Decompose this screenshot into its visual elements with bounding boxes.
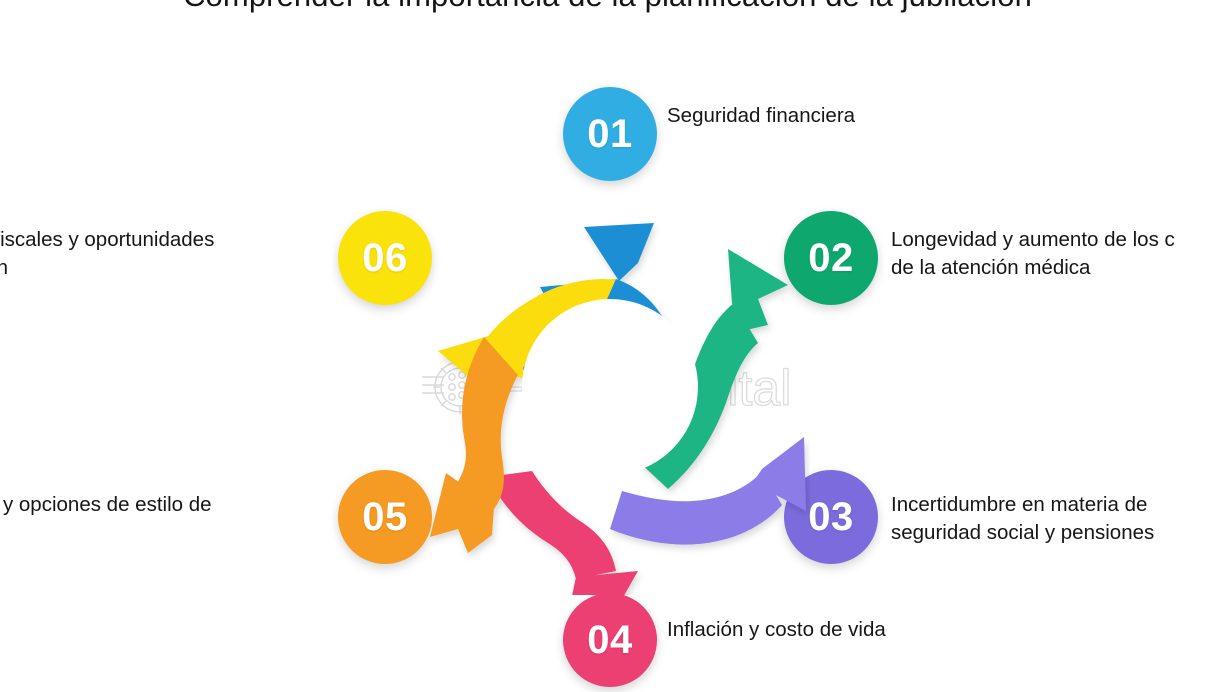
center-hub — [522, 299, 698, 475]
step-badge-01[interactable]: 01 — [563, 87, 657, 181]
step-label-04: Inflación y costo de vida — [667, 616, 1067, 644]
slide-canvas: Comprender la importancia de la planific… — [0, 0, 1215, 692]
step-number-01: 01 — [587, 114, 633, 154]
step-label-06: ficios fiscales y oportunidades versión — [0, 226, 342, 282]
step-number-02: 02 — [808, 238, 854, 278]
step-number-06: 06 — [362, 238, 408, 278]
step-label-05: bilidad y opciones de estilo de — [0, 491, 328, 519]
cycle-arrow-ring-main — [410, 175, 810, 595]
step-label-02: Longevidad y aumento de los c de la aten… — [891, 226, 1215, 282]
step-badge-04[interactable]: 04 — [563, 593, 657, 687]
step-number-04: 04 — [587, 620, 633, 660]
arrow-04 — [488, 471, 638, 595]
step-label-01: Seguridad financiera — [667, 102, 1087, 130]
step-label-03: Incertidumbre en materia de seguridad so… — [891, 491, 1215, 547]
arrow-05 — [430, 337, 518, 553]
step-number-03: 03 — [808, 497, 854, 537]
step-number-05: 05 — [362, 497, 408, 537]
page-title: Comprender la importancia de la planific… — [0, 0, 1215, 14]
